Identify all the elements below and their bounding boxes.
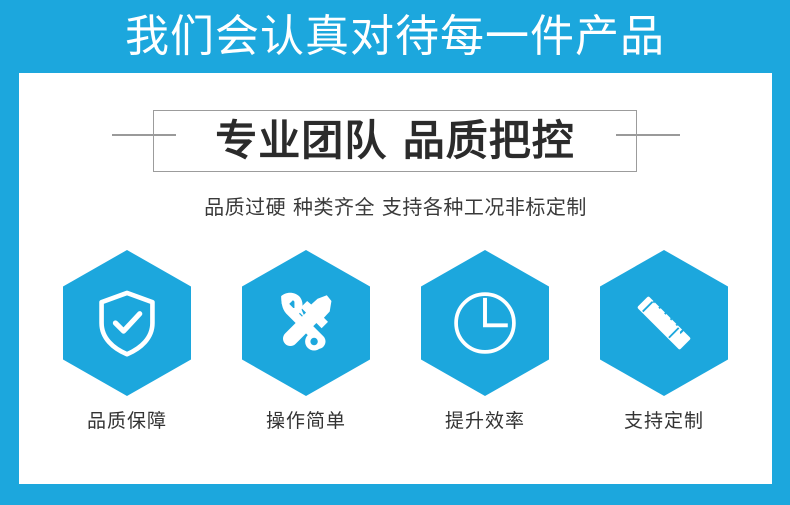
title-box: 专业团队 品质把控 <box>153 110 637 172</box>
title-block: 专业团队 品质把控 <box>19 73 772 183</box>
page-title: 专业团队 品质把控 <box>215 119 575 163</box>
content-panel: 专业团队 品质把控 品质过硬 种类齐全 支持各种工况非标定制 品质保障 <box>19 73 772 484</box>
feature-label: 提升效率 <box>445 410 525 432</box>
feature-hexagon <box>242 250 370 396</box>
feature-item-quality: 品质保障 <box>52 250 202 450</box>
wrench-hammer-icon <box>269 286 343 360</box>
feature-hexagon <box>600 250 728 396</box>
feature-list: 品质保障 操作简单 <box>19 250 772 450</box>
feature-label: 操作简单 <box>266 410 346 432</box>
clock-icon <box>448 286 522 360</box>
feature-hexagon <box>421 250 549 396</box>
shield-check-icon <box>90 286 164 360</box>
feature-label: 品质保障 <box>87 410 167 432</box>
feature-item-operation: 操作简单 <box>231 250 381 450</box>
page-subtitle: 品质过硬 种类齐全 支持各种工况非标定制 <box>19 195 772 219</box>
feature-item-customization: 支持定制 <box>589 250 739 450</box>
header-banner: 我们会认真对待每一件产品 <box>0 0 790 73</box>
promo-poster: 我们会认真对待每一件产品 专业团队 品质把控 品质过硬 种类齐全 支持各种工况非… <box>0 0 790 505</box>
feature-label: 支持定制 <box>624 410 704 432</box>
banner-headline: 我们会认真对待每一件产品 <box>125 14 665 60</box>
feature-hexagon <box>63 250 191 396</box>
ruler-pencil-icon <box>627 286 701 360</box>
feature-item-efficiency: 提升效率 <box>410 250 560 450</box>
